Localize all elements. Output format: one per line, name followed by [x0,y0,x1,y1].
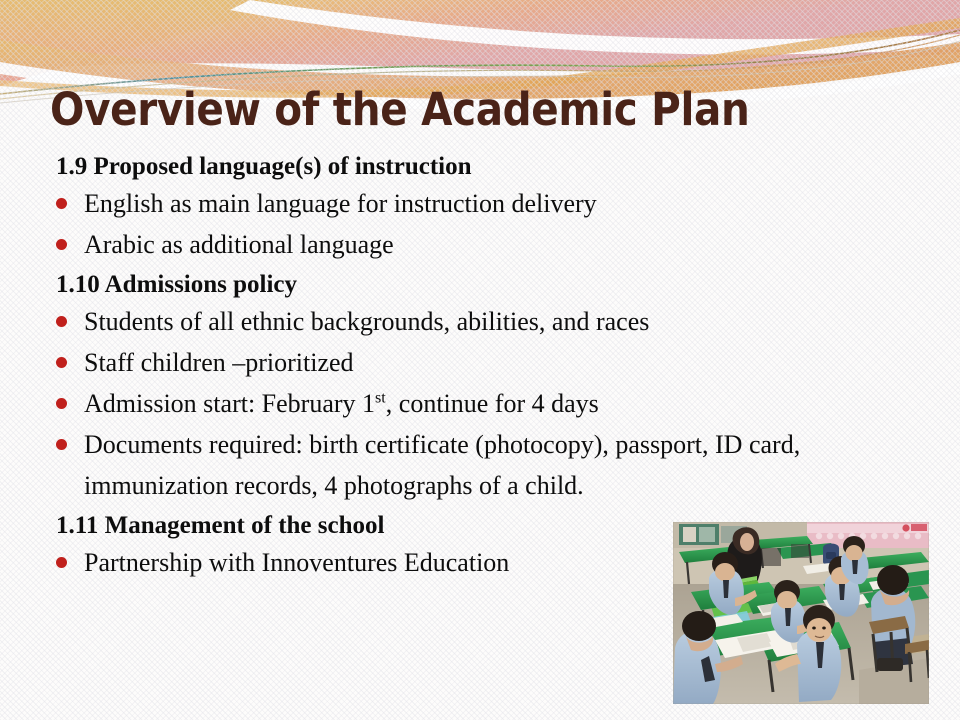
bullet-text: Documents required: birth certificate (p… [84,424,899,506]
bullet-dot-icon [56,439,67,450]
slide-title: Overview of the Academic Plan [50,84,749,136]
bullet-text: Students of all ethnic backgrounds, abil… [84,301,649,342]
bullet-dot-icon [56,198,67,209]
bullet-dot-icon [56,398,67,409]
bullet-dot-icon [56,316,67,327]
slide-canvas: Overview of the Academic Plan 1.9 Propos… [0,0,960,720]
bullet-dot-icon [56,557,67,568]
slide-body: 1.9 Proposed language(s) of instruction … [0,150,960,583]
section-heading-1-10: 1.10 Admissions policy [0,268,960,301]
list-item: Documents required: birth certificate (p… [0,424,960,506]
bullet-text: Staff children –prioritized [84,342,354,383]
list-item: Students of all ethnic backgrounds, abil… [0,301,960,342]
admission-suffix: , continue for 4 days [386,389,599,418]
bullet-text: Partnership with Innoventures Education [84,542,509,583]
bullet-text: English as main language for instruction… [84,183,597,224]
list-item: Arabic as additional language [0,224,960,265]
bullet-text-admission-start: Admission start: February 1st, continue … [84,383,599,424]
section-heading-1-9: 1.9 Proposed language(s) of instruction [0,150,960,183]
admission-prefix: Admission start: February 1 [84,389,375,418]
list-item: Staff children –prioritized [0,342,960,383]
bullet-text: Arabic as additional language [84,224,394,265]
bullet-dot-icon [56,357,67,368]
admission-ordinal-suffix: st [375,389,386,406]
list-item: Admission start: February 1st, continue … [0,383,960,424]
list-item: English as main language for instruction… [0,183,960,224]
classroom-students-photo [673,522,929,704]
bullet-dot-icon [56,239,67,250]
